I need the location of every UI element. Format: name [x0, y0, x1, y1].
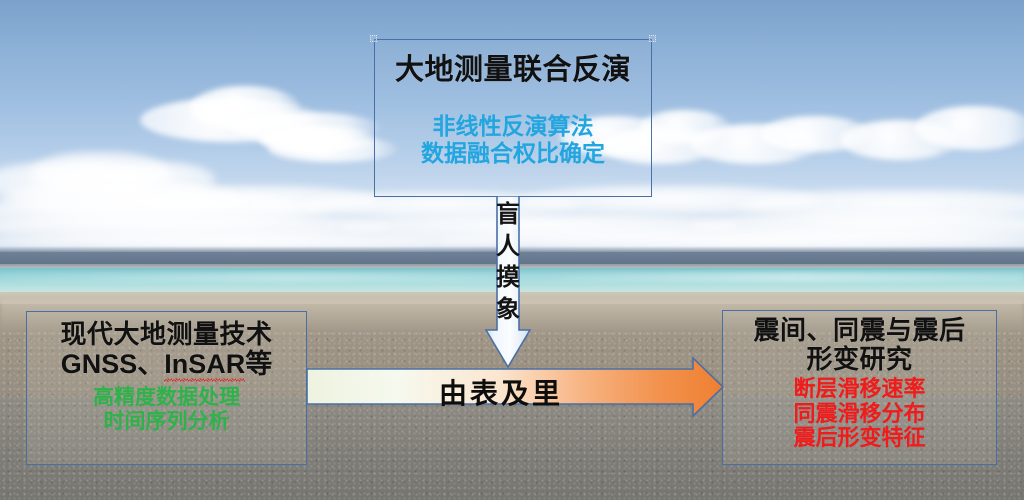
- cloud-shape: [915, 106, 1024, 150]
- right-arrow[interactable]: 由表及里: [306, 356, 724, 418]
- top-concept-box[interactable]: 大地测量联合反演 非线性反演算法 数据融合权比确定: [374, 39, 652, 197]
- top-box-title: 大地测量联合反演: [375, 54, 651, 86]
- left-box-title-line-1: 现代大地测量技术: [27, 320, 306, 349]
- left-box-title-prefix: GNSS、: [61, 349, 165, 379]
- right-box-sub-line-1: 断层滑移速率: [723, 377, 996, 402]
- down-arrow-char-2: 人: [485, 232, 531, 264]
- resize-handle-top-right[interactable]: [649, 35, 656, 42]
- down-arrow-char-4: 象: [485, 295, 531, 327]
- right-box-sub-line-2: 同震滑移分布: [723, 402, 996, 427]
- down-arrow-label: 盲 人 摸 象: [485, 200, 531, 327]
- left-concept-box[interactable]: 现代大地测量技术 GNSS、InSAR等 高精度数据处理 时间序列分析: [26, 311, 307, 465]
- top-box-subtitle: 非线性反演算法 数据融合权比确定: [375, 114, 651, 167]
- resize-handle-top-left[interactable]: [370, 35, 377, 42]
- right-arrow-label: 由表及里: [306, 372, 696, 412]
- left-box-misspelled-term: InSAR: [164, 349, 245, 379]
- left-box-title-line-2: GNSS、InSAR等: [27, 349, 306, 379]
- right-box-title-line-1: 震间、同震与震后: [723, 316, 996, 345]
- down-arrow-char-3: 摸: [485, 263, 531, 295]
- left-box-title: 现代大地测量技术 GNSS、InSAR等: [27, 320, 306, 379]
- right-box-sub-line-3: 震后形变特征: [723, 426, 996, 451]
- left-box-sub-line-1: 高精度数据处理: [27, 386, 306, 410]
- top-box-sub-line-2: 数据融合权比确定: [375, 141, 651, 167]
- down-arrow[interactable]: 盲 人 摸 象: [485, 196, 531, 368]
- left-box-subtitle: 高精度数据处理 时间序列分析: [27, 386, 306, 433]
- left-box-title-suffix: 等: [245, 349, 272, 379]
- left-box-sub-line-2: 时间序列分析: [27, 410, 306, 434]
- right-box-title: 震间、同震与震后 形变研究: [723, 316, 996, 374]
- right-box-subtitle: 断层滑移速率 同震滑移分布 震后形变特征: [723, 377, 996, 451]
- slide-canvas: 大地测量联合反演 非线性反演算法 数据融合权比确定 盲 人 摸: [0, 0, 1024, 500]
- right-box-title-line-2: 形变研究: [723, 345, 996, 374]
- right-concept-box[interactable]: 震间、同震与震后 形变研究 断层滑移速率 同震滑移分布 震后形变特征: [722, 310, 997, 465]
- top-box-sub-line-1: 非线性反演算法: [375, 114, 651, 140]
- down-arrow-char-1: 盲: [485, 200, 531, 232]
